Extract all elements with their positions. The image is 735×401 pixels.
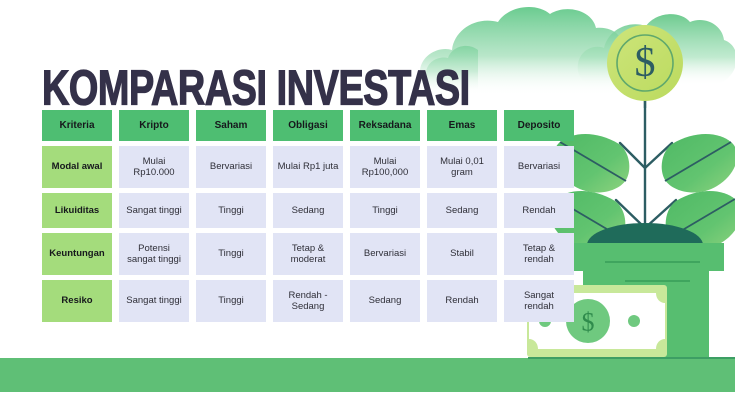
cell-keuntungan-kripto: Potensi sangat tinggi bbox=[119, 233, 189, 275]
cell-resiko-reksadana: Sedang bbox=[350, 280, 420, 322]
table-row: Modal awal Mulai Rp10.000 Bervariasi Mul… bbox=[42, 146, 574, 188]
coin-dollar-symbol: $ bbox=[635, 40, 656, 86]
cell-resiko-saham: Tinggi bbox=[196, 280, 266, 322]
row-label-likuiditas: Likuiditas bbox=[42, 193, 112, 228]
cell-resiko-obligasi: Rendah - Sedang bbox=[273, 280, 343, 322]
cell-modal-awal-emas: Mulai 0,01 gram bbox=[427, 146, 497, 188]
cell-resiko-kripto: Sangat tinggi bbox=[119, 280, 189, 322]
row-label-keuntungan: Keuntungan bbox=[42, 233, 112, 275]
table-row: Resiko Sangat tinggi Tinggi Rendah - Sed… bbox=[42, 280, 574, 322]
table-row: Keuntungan Potensi sangat tinggi Tinggi … bbox=[42, 233, 574, 275]
comparison-table: Kriteria Kripto Saham Obligasi Reksadana… bbox=[42, 110, 574, 322]
column-header-reksadana: Reksadana bbox=[350, 110, 420, 141]
cell-modal-awal-saham: Bervariasi bbox=[196, 146, 266, 188]
cell-likuiditas-saham: Tinggi bbox=[196, 193, 266, 228]
cell-modal-awal-kripto: Mulai Rp10.000 bbox=[119, 146, 189, 188]
cell-modal-awal-obligasi: Mulai Rp1 juta bbox=[273, 146, 343, 188]
cell-keuntungan-obligasi: Tetap & moderat bbox=[273, 233, 343, 275]
cell-keuntungan-emas: Stabil bbox=[427, 233, 497, 275]
cell-likuiditas-kripto: Sangat tinggi bbox=[119, 193, 189, 228]
cell-likuiditas-reksadana: Tinggi bbox=[350, 193, 420, 228]
page-title: KOMPARASI INVESTASI bbox=[42, 63, 470, 115]
cell-keuntungan-deposito: Tetap & rendah bbox=[504, 233, 574, 275]
cell-likuiditas-obligasi: Sedang bbox=[273, 193, 343, 228]
cell-resiko-emas: Rendah bbox=[427, 280, 497, 322]
row-label-modal-awal: Modal awal bbox=[42, 146, 112, 188]
table-header-row: Kriteria Kripto Saham Obligasi Reksadana… bbox=[42, 110, 574, 141]
column-header-kriteria: Kriteria bbox=[42, 110, 112, 141]
cell-modal-awal-deposito: Bervariasi bbox=[504, 146, 574, 188]
plant-leaves bbox=[550, 134, 735, 250]
column-header-deposito: Deposito bbox=[504, 110, 574, 141]
cell-likuiditas-deposito: Rendah bbox=[504, 193, 574, 228]
planter-pot bbox=[568, 223, 724, 361]
column-header-obligasi: Obligasi bbox=[273, 110, 343, 141]
column-header-emas: Emas bbox=[427, 110, 497, 141]
ground-bar bbox=[0, 358, 735, 392]
coin-flower-icon: $ bbox=[607, 25, 683, 108]
banknote-dollar-symbol: $ bbox=[582, 308, 595, 337]
row-label-resiko: Resiko bbox=[42, 280, 112, 322]
plant-stem bbox=[616, 88, 676, 258]
column-header-kripto: Kripto bbox=[119, 110, 189, 141]
cell-modal-awal-reksadana: Mulai Rp100,000 bbox=[350, 146, 420, 188]
cell-keuntungan-saham: Tinggi bbox=[196, 233, 266, 275]
table-row: Likuiditas Sangat tinggi Tinggi Sedang T… bbox=[42, 193, 574, 228]
investment-comparison-infographic: $ $ KOMPARASI INVESTASI Kriteria bbox=[0, 0, 735, 401]
cell-resiko-deposito: Sangat rendah bbox=[504, 280, 574, 322]
column-header-saham: Saham bbox=[196, 110, 266, 141]
cell-likuiditas-emas: Sedang bbox=[427, 193, 497, 228]
cell-keuntungan-reksadana: Bervariasi bbox=[350, 233, 420, 275]
